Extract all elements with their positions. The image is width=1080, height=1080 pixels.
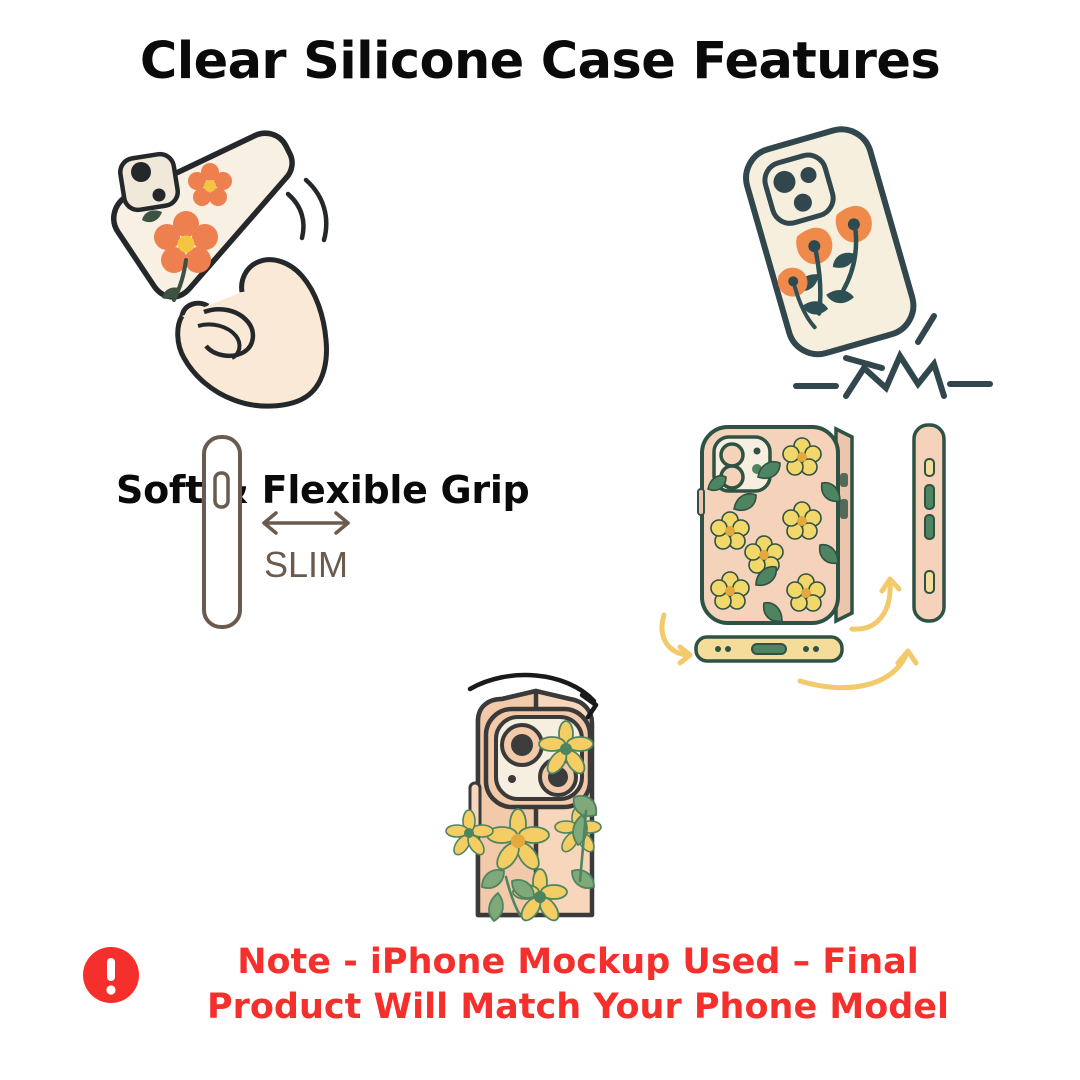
bottom-edge-port-cutouts	[696, 637, 842, 661]
motion-arc-lines	[288, 180, 326, 240]
feature-label-ultra-slim-design: Ultra Slim Design	[160, 1075, 520, 1080]
feature-soft-flexible-grip: Soft & Flexible Grip	[58, 120, 458, 420]
hand-holding-flexing-phone-case-icon	[58, 120, 458, 420]
exclamation-circle-icon	[82, 946, 140, 1004]
phone-raised-camera-edge-icon	[330, 665, 750, 935]
slim-measure-label: SLIM	[264, 544, 348, 585]
infographic-page: Clear Silicone Case Features	[0, 0, 1080, 1080]
feature-shock-absorbent: Shock Absorbent	[650, 120, 1010, 420]
note-text: Note - iPhone Mockup Used – Final Produc…	[158, 940, 998, 1030]
side-profile-button-cutouts	[914, 425, 944, 621]
feature-raised-edge-camera: Raised Edge for Camera	[330, 665, 750, 935]
phone-dropping-impact-icon	[650, 120, 1010, 420]
page-title: Clear Silicone Case Features	[0, 32, 1080, 91]
width-measure-arrow	[264, 513, 348, 533]
note-banner: Note - iPhone Mockup Used – Final Produc…	[0, 940, 1080, 1030]
